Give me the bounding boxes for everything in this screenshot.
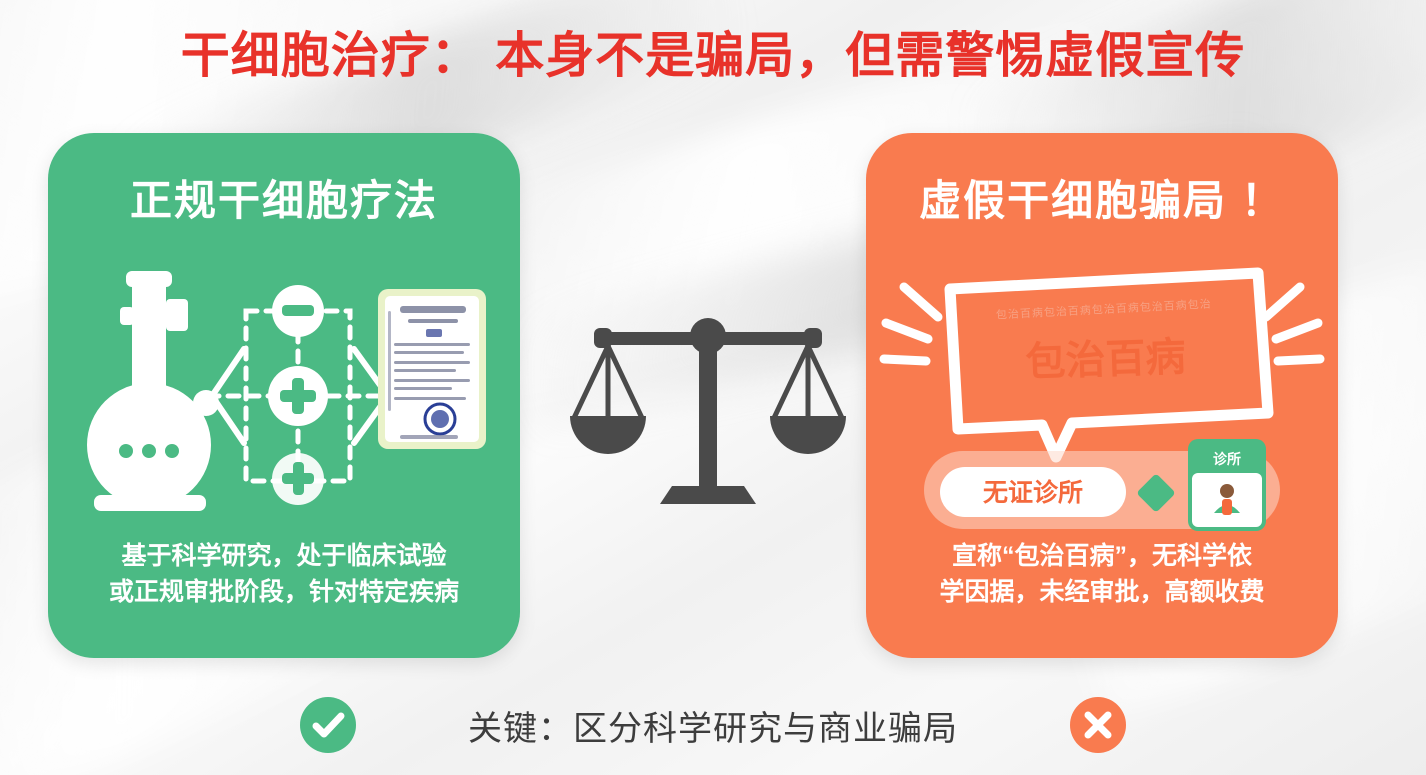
page-title: 干细胞治疗： 本身不是骗局，但需警惕虚假宣传 xyxy=(0,16,1426,87)
process-node-plus-2 xyxy=(272,453,324,505)
flask-content-dots xyxy=(119,444,179,458)
fraud-illustration: 包治百病包治百病包治百病包治百病包治 包治百病 无证诊所 xyxy=(866,251,1338,541)
card-legitimate-heading: 正规干细胞疗法 xyxy=(48,167,520,228)
card-fraud-body-line1: 宣称“包治百病”，无科学依 xyxy=(888,539,1316,575)
card-fraud-scheme: 虚假干细胞骗局 ！ 包治百病包治百病包治百病包治百病包治 xyxy=(866,133,1338,658)
green-card-icon: 诊所 xyxy=(1188,439,1266,531)
card-legitimate-therapy: 正规干细胞疗法 xyxy=(48,133,520,658)
card-legitimate-body-line1: 基于科学研究，处于临床试验 xyxy=(70,539,498,575)
process-node-plus-1 xyxy=(268,366,328,426)
balance-scale-icon xyxy=(568,300,848,520)
clinic-badge: 无证诊所 xyxy=(940,467,1126,517)
card-fraud-body: 宣称“包治百病”，无科学依 学因据，未经审批，高额收费 xyxy=(888,539,1316,610)
card-legitimate-body-line2: 或正规审批阶段，针对特定疾病 xyxy=(70,575,498,611)
card-fraud-body-line2: 学因据，未经审批，高额收费 xyxy=(888,575,1316,611)
speech-bubble-icon: 包治百病包治百病包治百病包治百病包治 包治百病 xyxy=(950,273,1268,457)
card-legitimate-body: 基于科学研究，处于临床试验 或正规审批阶段，针对特定疾病 xyxy=(70,539,498,610)
footer-conclusion: 关键：区分科学研究与商业骗局 xyxy=(0,687,1426,763)
clinic-badge-label: 无证诊所 xyxy=(983,478,1083,507)
poster-canvas: 干细胞治疗： 本身不是骗局，但需警惕虚假宣传 正规干细胞疗法 xyxy=(0,0,1426,775)
bubble-subtitle: 包治百病包治百病包治百病包治百病包治 xyxy=(996,296,1212,321)
process-node-minus xyxy=(272,285,324,337)
bubble-slogan: 包治百病 xyxy=(1025,335,1186,385)
footer-text: 关键：区分科学研究与商业骗局 xyxy=(468,701,958,750)
card-fraud-heading: 虚假干细胞骗局 ！ xyxy=(866,167,1338,228)
legitimate-illustration xyxy=(48,251,520,541)
flask-icon xyxy=(87,271,219,511)
certificate-icon xyxy=(378,289,486,449)
x-circle-icon xyxy=(1070,697,1126,753)
check-circle-icon xyxy=(300,697,356,753)
mini-card-label: 诊所 xyxy=(1213,451,1241,467)
